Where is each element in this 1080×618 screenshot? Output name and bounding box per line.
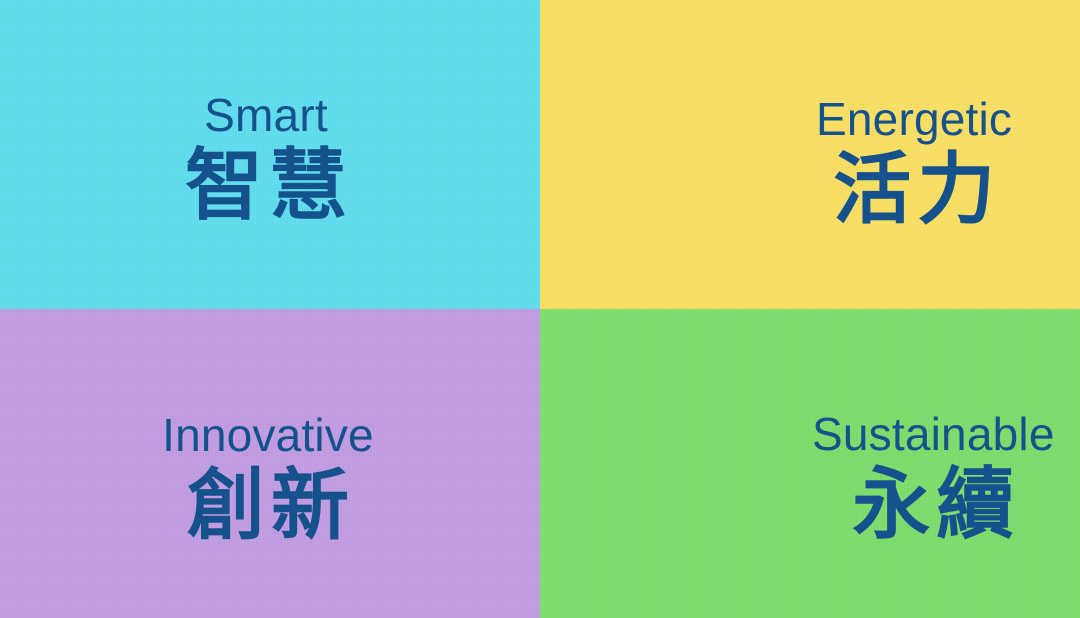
quadrant-sustainable-chinese-label: 永續 xyxy=(846,462,1020,546)
label-stack-energetic: Energetic 活力 xyxy=(816,96,1012,231)
quadrant-sustainable[interactable]: Sustainable 永續 xyxy=(540,309,1080,618)
label-stack-innovative: Innovative 創新 xyxy=(162,412,374,547)
label-stack-smart: Smart 智慧 xyxy=(179,92,353,227)
quadrant-innovative-english-label: Innovative xyxy=(162,412,374,459)
label-stack-sustainable: Sustainable 永續 xyxy=(812,411,1055,546)
quadrant-innovative-chinese-label: 創新 xyxy=(181,463,355,547)
quadrant-energetic-chinese-label: 活力 xyxy=(827,147,1001,231)
quadrant-sustainable-english-label: Sustainable xyxy=(812,411,1055,458)
brand-values-poster: Smart 智慧 Energetic 活力 Innovative 創新 Sust… xyxy=(0,0,1080,618)
quadrant-innovative[interactable]: Innovative 創新 xyxy=(0,309,540,618)
quadrant-energetic[interactable]: Energetic 活力 xyxy=(540,0,1080,309)
quadrant-energetic-english-label: Energetic xyxy=(816,96,1012,143)
quadrant-smart-english-label: Smart xyxy=(204,92,328,139)
quadrant-smart-chinese-label: 智慧 xyxy=(179,143,353,227)
quadrant-smart[interactable]: Smart 智慧 xyxy=(0,0,540,309)
